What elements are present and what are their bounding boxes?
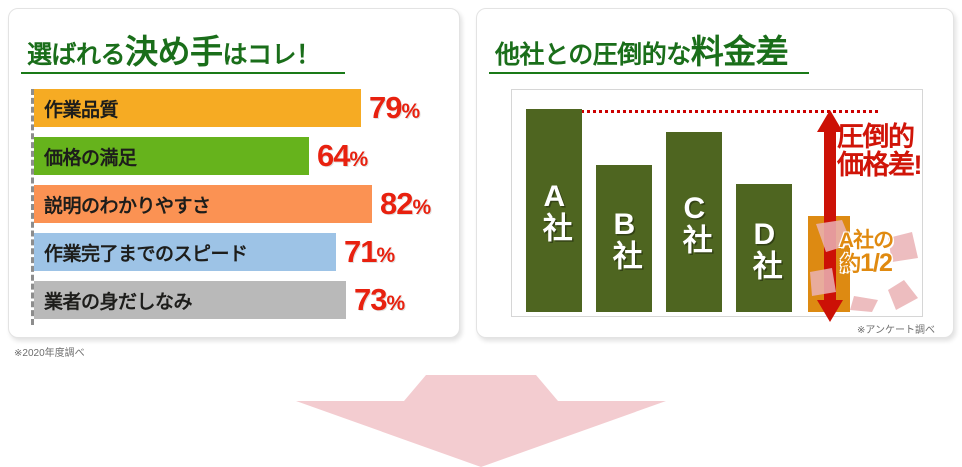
bar-row: 作業品質 79%	[34, 89, 419, 127]
price-gap-callout: 圧倒的 価格差!	[837, 124, 921, 179]
bar-label: 作業完了までのスピード	[34, 239, 248, 266]
right-footnote: ※アンケート調べ	[857, 321, 935, 336]
column-d: D社	[736, 184, 792, 312]
bar-作業完了までのスピード: 作業完了までのスピード	[34, 233, 336, 271]
bar-row: 作業完了までのスピード 71%	[34, 233, 394, 271]
left-title-underline	[21, 72, 345, 74]
right-title-underline	[489, 72, 809, 74]
column-label: C社	[680, 192, 708, 253]
badge-text: A社の 約1/2	[812, 230, 920, 276]
price-comparison-card: 他社との圧倒的な料金差 A社 B社 C社 D社 エコクリーン 圧倒的	[476, 8, 954, 338]
callout-line-1: 圧倒的	[837, 124, 921, 152]
bar-label: 業者の身だしなみ	[34, 287, 192, 314]
right-panel-title: 他社との圧倒的な料金差	[495, 25, 788, 73]
bar-label: 価格の満足	[34, 143, 137, 170]
column-chart: A社 B社 C社 D社 エコクリーン 圧倒的 価格差!	[511, 89, 923, 317]
column-c: C社	[666, 132, 722, 312]
bar-価格の満足: 価格の満足	[34, 137, 309, 175]
column-a: A社	[526, 109, 582, 312]
bar-業者の身だしなみ: 業者の身だしなみ	[34, 281, 346, 319]
bar-value: 82%	[380, 186, 430, 222]
column-label: B社	[610, 208, 638, 269]
badge-line-2: 約1/2	[812, 251, 920, 276]
bar-作業品質: 作業品質	[34, 89, 361, 127]
column-label: D社	[750, 218, 778, 279]
bar-row: 業者の身だしなみ 73%	[34, 281, 404, 319]
bar-value: 79%	[369, 90, 419, 126]
horizontal-bar-chart: 作業品質 79% 価格の満足 64% 説明のわかりやすさ 82% 作業	[31, 87, 451, 327]
left-title-part2: はコレ！	[223, 41, 321, 69]
arrow-down-icon	[296, 368, 666, 467]
bar-label: 作業品質	[34, 95, 118, 122]
bar-row: 説明のわかりやすさ 82%	[34, 185, 430, 223]
bar-value: 73%	[354, 282, 404, 318]
survey-results-card: 選ばれる決め手はコレ！ 作業品質 79% 価格の満足 64% 説明のわかりやすさ	[8, 8, 460, 338]
bar-value: 71%	[344, 234, 394, 270]
right-title-part1: 他社との圧倒的な	[495, 41, 691, 69]
left-footnote: ※2020年度調べ	[14, 344, 85, 359]
bar-row: 価格の満足 64%	[34, 137, 367, 175]
bar-value: 64%	[317, 138, 367, 174]
badge-line-1: A社の	[812, 230, 920, 251]
bar-説明のわかりやすさ: 説明のわかりやすさ	[34, 185, 372, 223]
left-title-part1: 選ばれる	[27, 41, 125, 69]
bar-label: 説明のわかりやすさ	[34, 191, 211, 218]
column-label: A社	[540, 180, 568, 241]
column-b: B社	[596, 165, 652, 312]
right-title-emphasis: 料金差	[691, 33, 789, 70]
left-panel-title: 選ばれる決め手はコレ！	[27, 25, 321, 73]
callout-line-2: 価格差!	[837, 152, 921, 180]
left-title-emphasis: 決め手	[125, 33, 223, 70]
